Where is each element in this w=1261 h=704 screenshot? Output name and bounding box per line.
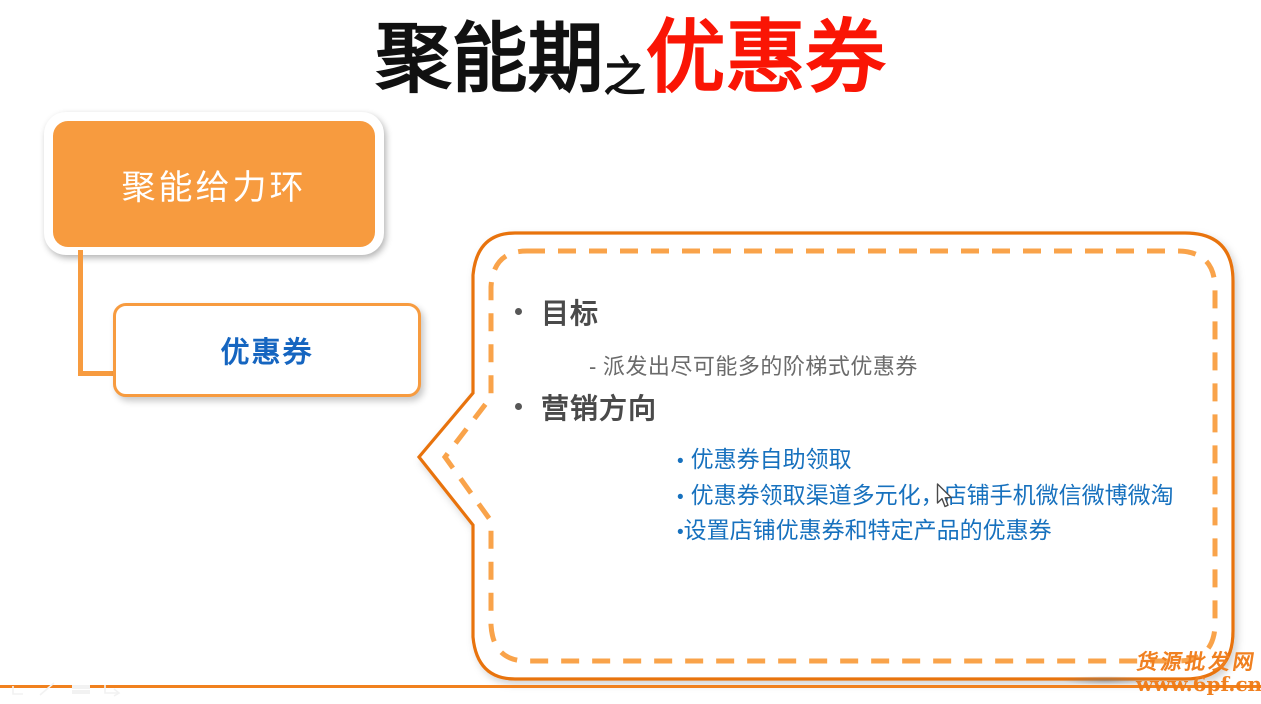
section-heading-goal-label: 目标 [541,292,599,332]
section-heading-direction-label: 营销方向 [541,387,657,427]
blue-list-item: •设置店铺优惠券和特定产品的优惠券 [677,511,1052,545]
blue-bullet-icon: • [677,522,684,543]
corner-shape-icon [13,686,23,694]
section-heading-direction: 营销方向 [515,387,657,427]
bottom-divider-line [0,685,1261,688]
goal-detail-line: -派发出尽可能多的阶梯式优惠券 [589,349,918,381]
blue-bullet-icon: • [677,487,684,508]
blue-bullet-icon: • [677,451,684,472]
connector-vertical [78,250,83,376]
sub-node-label: 优惠券 [220,329,313,371]
blue-list-item-text: 设置店铺优惠券和特定产品的优惠券 [684,517,1052,543]
main-node-label: 聚能给力环 [122,160,307,209]
page-title: 聚能期之优惠券 [0,18,1261,98]
section-heading-goal: 目标 [515,292,599,332]
title-part-red: 优惠券 [646,13,886,102]
blue-list-item-text: 优惠券领取渠道多元化，店铺手机微信微博微淘 [691,482,1174,508]
blue-list-item: •优惠券领取渠道多元化，店铺手机微信微博微淘 [677,476,1174,510]
bullet-dot-icon [515,308,522,315]
dash-marker-icon: - [589,354,597,379]
slide-canvas: 聚能期之优惠券 聚能给力环 优惠券 目标 [0,0,1261,704]
bullet-dot-icon [515,403,522,410]
callout-panel: 目标 -派发出尽可能多的阶梯式优惠券 营销方向 •优惠券自助领取 •优惠券领取渠… [415,225,1245,687]
goal-detail-text: 派发出尽可能多的阶梯式优惠券 [603,354,918,379]
arrow-icon [105,685,119,696]
line-icon [40,683,54,695]
bottom-shadow-ellipse [1062,676,1148,685]
main-node-box[interactable]: 聚能给力环 [53,121,375,247]
title-part-zhi: 之 [603,53,645,100]
blue-list-item-text: 优惠券自助领取 [691,446,852,472]
blue-list-item: •优惠券自助领取 [677,440,852,474]
title-part-black: 聚能期 [375,17,603,102]
sub-node-box[interactable]: 优惠券 [113,303,421,397]
stack-icon [72,685,90,694]
drawing-toolbar[interactable] [10,678,140,700]
callout-content: 目标 -派发出尽可能多的阶梯式优惠券 营销方向 •优惠券自助领取 •优惠券领取渠… [515,250,1215,660]
